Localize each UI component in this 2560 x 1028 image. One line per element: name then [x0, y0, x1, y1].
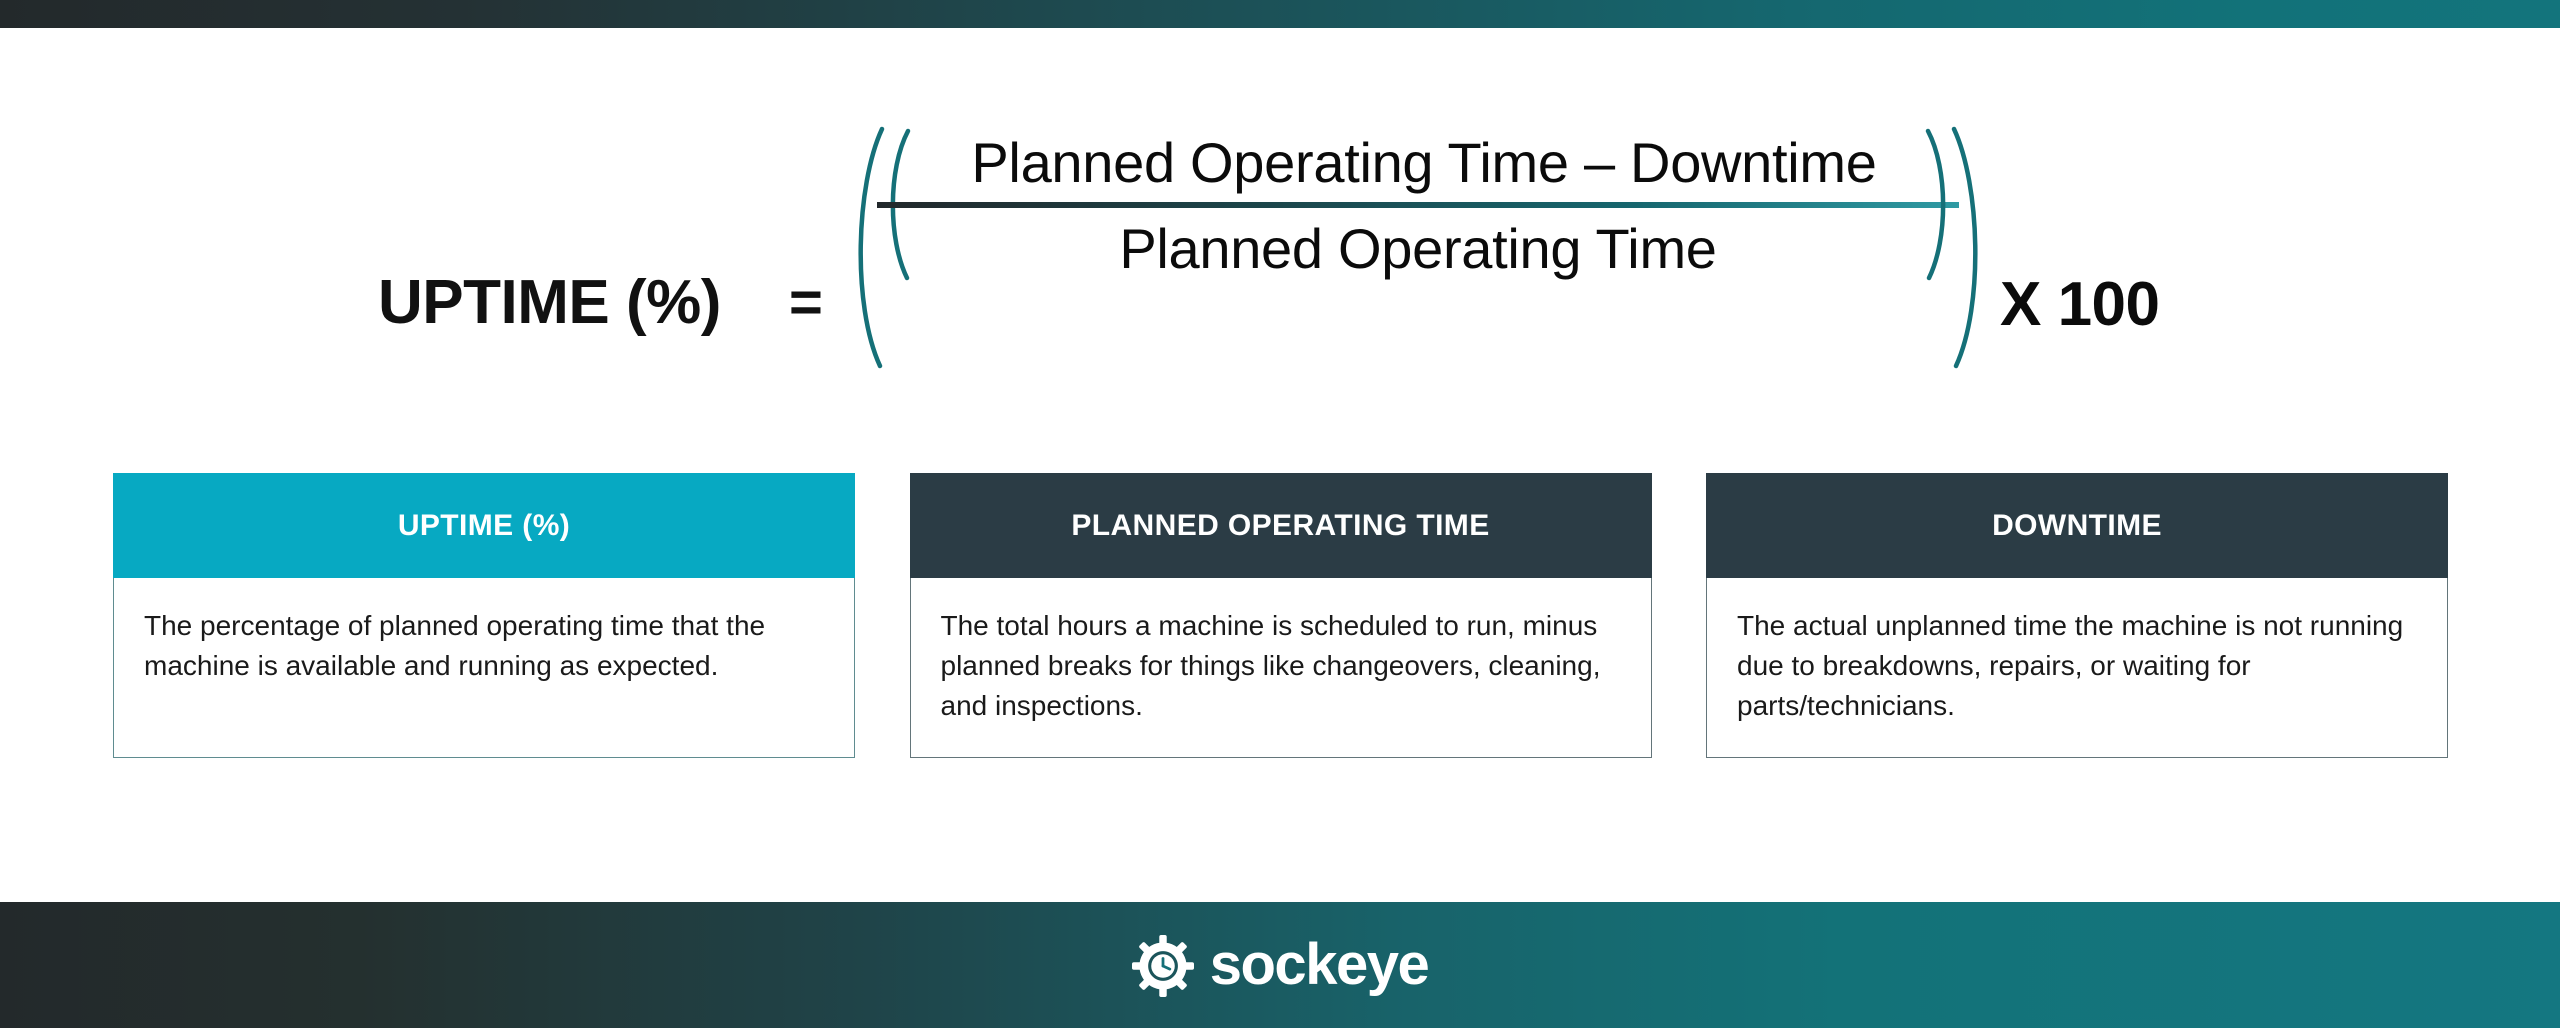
top-accent-bar	[0, 0, 2560, 28]
footer-logo: sockeye	[0, 902, 2560, 1028]
card-planned-operating-time: PLANNED OPERATING TIME The total hours a…	[910, 473, 1652, 758]
uptime-formula: UPTIME (%) = Planned Operating Time – Do…	[0, 95, 2560, 335]
definition-cards: UPTIME (%) The percentage of planned ope…	[113, 473, 2448, 758]
fraction-numerator: Planned Operating Time – Downtime	[877, 130, 1959, 196]
card-downtime: DOWNTIME The actual unplanned time the m…	[1706, 473, 2448, 758]
formula-equals-sign: =	[789, 274, 823, 332]
fraction-denominator: Planned Operating Time	[877, 208, 1959, 282]
card-planned-operating-time-body: The total hours a machine is scheduled t…	[910, 578, 1652, 758]
card-planned-operating-time-title: PLANNED OPERATING TIME	[910, 473, 1652, 578]
card-uptime: UPTIME (%) The percentage of planned ope…	[113, 473, 855, 758]
card-uptime-body: The percentage of planned operating time…	[113, 578, 855, 758]
card-uptime-title: UPTIME (%)	[113, 473, 855, 578]
formula-left-label: UPTIME (%)	[378, 272, 721, 334]
footer-bar: sockeye	[0, 902, 2560, 1028]
card-downtime-body: The actual unplanned time the machine is…	[1706, 578, 2448, 758]
gear-clock-icon	[1132, 935, 1194, 997]
card-downtime-title: DOWNTIME	[1706, 473, 2448, 578]
brand-wordmark: sockeye	[1210, 936, 1428, 994]
formula-fraction: Planned Operating Time – Downtime Planne…	[877, 130, 1959, 282]
formula-multiplier: X 100	[2000, 274, 2160, 336]
